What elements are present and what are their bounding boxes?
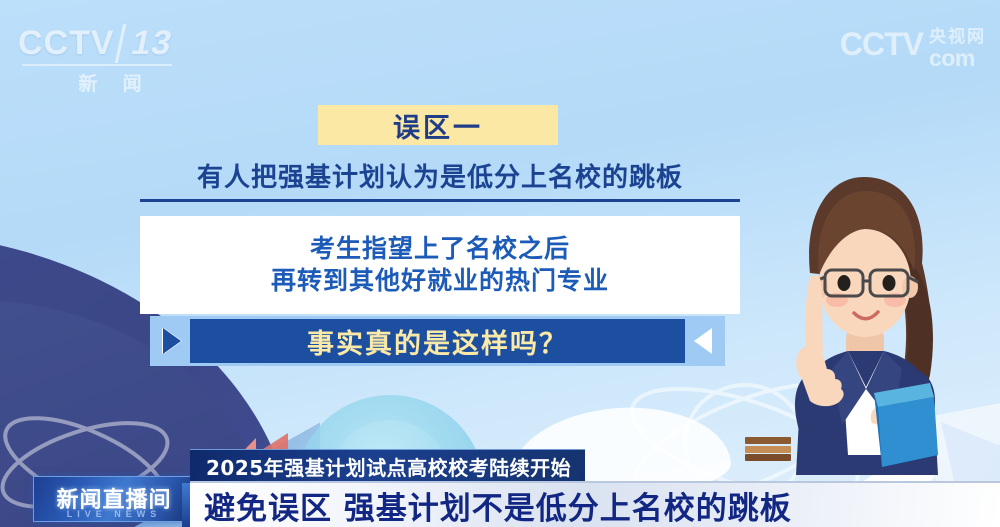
- cctv-wordmark: CCTV: [18, 24, 115, 63]
- program-name-en: LIVE NEWS: [67, 509, 162, 519]
- arrow-right-icon: [163, 328, 181, 354]
- broadcast-screen: CCTV 13 新 闻 CCTV 央视网 com 误区一 有人把强基计划认为是低…: [0, 0, 1000, 527]
- eye-left: [838, 275, 851, 291]
- question-bar: 事实真的是这样吗？: [190, 319, 685, 363]
- claim-block: 有人把强基计划认为是低分上名校的跳板: [140, 157, 740, 202]
- program-bug: 新闻直播间 LIVE NEWS: [33, 476, 195, 522]
- arrow-left-icon: [694, 328, 712, 354]
- headline-accent-bar: [182, 483, 190, 527]
- detail-card: 考生指望上了名校之后 再转到其他好就业的热门专业: [140, 216, 740, 314]
- misconception-badge: 误区一: [318, 105, 558, 145]
- headline-bar: 避免误区 强基计划不是低分上名校的跳板: [190, 481, 1000, 527]
- detail-line-1: 考生指望上了名校之后: [310, 234, 570, 265]
- logo-divider: [22, 64, 172, 66]
- claim-underline: [140, 199, 740, 202]
- cctv-com-tld: com: [929, 47, 986, 70]
- channel-number: 13: [114, 24, 183, 63]
- topic-text: 2025年强基计划试点高校校考陆续开始: [206, 452, 571, 481]
- claim-text: 有人把强基计划认为是低分上名校的跳板: [140, 157, 740, 194]
- cctv-com-brand: CCTV: [840, 28, 923, 60]
- topic-bar: 2025年强基计划试点高校校考陆续开始: [190, 449, 585, 483]
- headline-text: 避免误区 强基计划不是低分上名校的跳板: [204, 483, 792, 527]
- question-text: 事实真的是这样吗？: [307, 322, 568, 361]
- question-card: 事实真的是这样吗？: [150, 316, 725, 366]
- index-finger: [805, 275, 823, 353]
- cctv-com-watermark: CCTV 央视网 com: [840, 28, 986, 70]
- presenter-illustration: [724, 155, 994, 475]
- cctv-com-cn: 央视网: [929, 28, 986, 45]
- channel-name-cn: 新 闻: [18, 69, 194, 96]
- eye-right: [883, 275, 896, 291]
- lower-third: 新闻直播间 LIVE NEWS 2025年强基计划试点高校校考陆续开始 避免误区…: [0, 435, 1000, 527]
- misconception-label: 误区一: [393, 106, 483, 145]
- cctv13-logo: CCTV 13 新 闻: [18, 24, 194, 90]
- detail-line-2: 再转到其他好就业的热门专业: [271, 266, 609, 297]
